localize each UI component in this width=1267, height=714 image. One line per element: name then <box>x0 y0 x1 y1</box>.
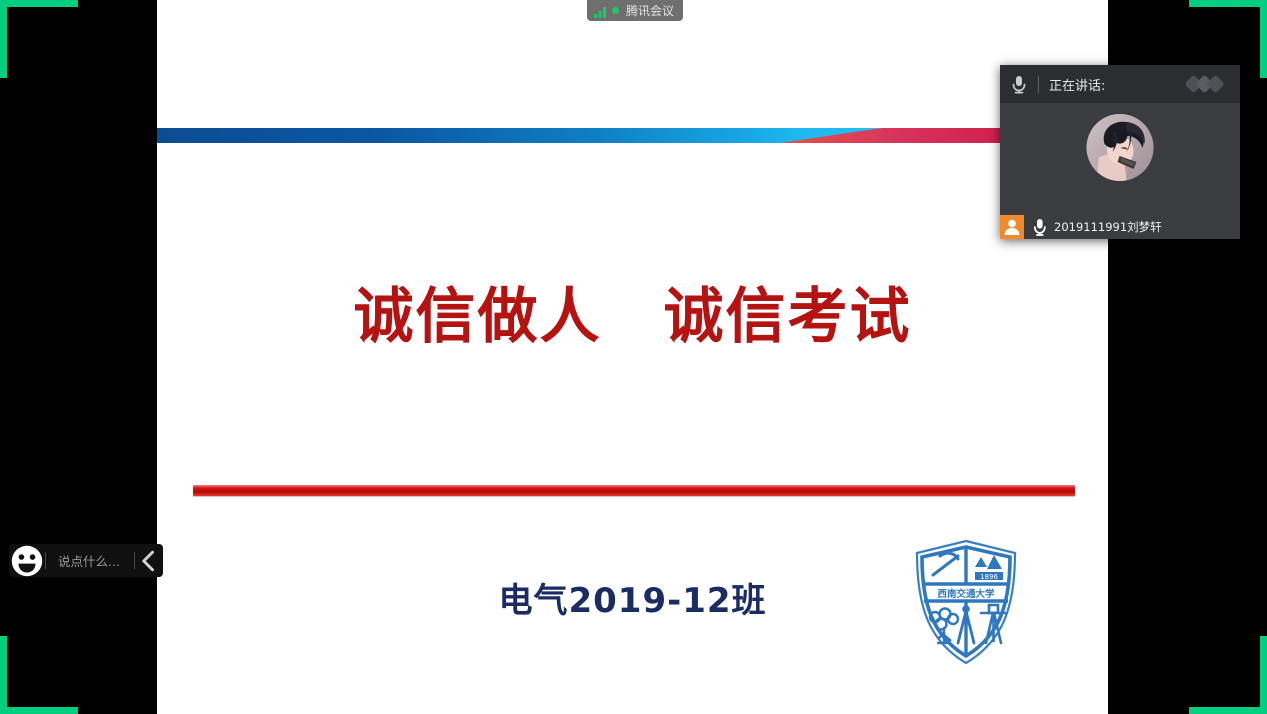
signal-bars-icon <box>594 5 607 16</box>
participant-avatar-icon <box>1000 215 1024 239</box>
band-blue-segment <box>157 128 797 143</box>
logo-year-text: 1896 <box>980 573 998 581</box>
smiley-face-icon[interactable] <box>9 544 45 577</box>
screen-share-border-right-top <box>1260 0 1267 78</box>
screen-share-border-bottom-left <box>0 707 78 714</box>
screen-share-border-bottom-right <box>1189 707 1267 714</box>
slide-title: 诚信做人 诚信考试 <box>157 283 1108 352</box>
chat-input-placeholder[interactable]: 说点什么... <box>46 551 134 570</box>
chevron-left-icon[interactable] <box>135 544 163 577</box>
speaking-label: 正在讲话: <box>1049 75 1186 94</box>
video-panel-body: 2019111991刘梦轩 <box>1000 103 1240 239</box>
slide-red-divider <box>193 485 1075 496</box>
header-divider <box>1038 76 1039 93</box>
green-status-dot-icon <box>612 7 619 14</box>
screen-share-border-left-top <box>0 0 7 78</box>
chat-input-bar[interactable]: 说点什么... <box>9 544 163 577</box>
shared-slide: 诚信做人 诚信考试 电气2019-12班 <box>157 0 1108 714</box>
participant-microphone-icon <box>1030 216 1050 238</box>
screen-share-border-right-bottom <box>1260 636 1267 714</box>
microphone-icon[interactable] <box>1008 73 1030 95</box>
screen-share-border-top-right <box>1189 0 1267 7</box>
participant-name-bar: 2019111991刘梦轩 <box>1000 215 1162 239</box>
participant-name: 2019111991刘梦轩 <box>1054 219 1162 235</box>
screen-share-border-top-left <box>0 0 78 7</box>
southwest-jiaotong-university-logo: 1896 西南交通大学 <box>911 537 1021 667</box>
slide-decorative-band <box>157 128 1108 143</box>
meeting-status-pill[interactable]: 腾讯会议 <box>587 0 683 21</box>
gallery-layout-icon[interactable] <box>1186 73 1232 95</box>
video-panel-header: 正在讲话: <box>1000 65 1240 103</box>
screen-share-border-left-bottom <box>0 636 7 714</box>
speaker-video-panel[interactable]: 正在讲话: <box>1000 65 1240 239</box>
meeting-app-name: 腾讯会议 <box>626 2 674 19</box>
logo-university-name: 西南交通大学 <box>937 588 995 600</box>
user-avatar-image <box>1087 114 1154 181</box>
meeting-screen: 诚信做人 诚信考试 电气2019-12班 <box>0 0 1267 714</box>
